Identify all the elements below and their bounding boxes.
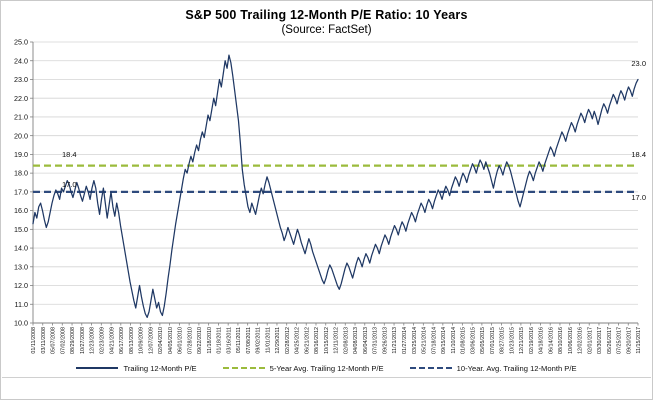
- legend-label: 5-Year Avg. Trailing 12-Month P/E: [270, 364, 384, 373]
- x-axis-tick-label: 12/11/2012: [334, 327, 340, 354]
- x-axis-tick-label: 01/08/2015: [461, 327, 467, 354]
- legend-label: Trailing 12-Month P/E: [123, 364, 196, 373]
- avg5-right-label: 18.4: [631, 150, 646, 159]
- x-axis-tick-label: 06/04/2013: [363, 327, 369, 354]
- y-axis-tick-label: 15.0: [14, 225, 28, 234]
- x-axis-tick-label: 12/29/2011: [275, 327, 281, 354]
- x-axis-tick-label: 02/01/2017: [587, 327, 593, 354]
- x-axis-tick-label: 07/01/2015: [490, 327, 496, 354]
- chart-canvas: 25.024.023.022.021.020.019.018.017.016.0…: [0, 0, 653, 400]
- x-axis-tick-label: 05/21/2014: [422, 327, 428, 354]
- y-axis-tick-label: 16.0: [14, 206, 28, 215]
- x-axis-tick-label: 12/21/2015: [519, 327, 525, 354]
- x-axis-tick-label: 01/27/2014: [402, 327, 408, 354]
- legend-swatch-dash-icon: [410, 367, 452, 369]
- y-axis-tick-label: 24.0: [14, 56, 28, 65]
- x-axis-tick-label: 03/16/2011: [226, 327, 232, 354]
- y-axis-tick-label: 18.0: [14, 169, 28, 178]
- x-axis-tick-label: 03/06/2015: [470, 327, 476, 354]
- y-axis-tick-label: 22.0: [14, 94, 28, 103]
- x-axis-tick-label: 06/14/2016: [548, 327, 554, 354]
- avg5-left-label: 18.4: [62, 150, 77, 159]
- x-axis-tick-label: 04/08/2013: [353, 327, 359, 354]
- x-axis-tick-label: 07/28/2010: [187, 327, 193, 354]
- chart-legend: Trailing 12-Month P/E 5-Year Avg. Traili…: [0, 360, 653, 376]
- x-axis-tick-label: 11/10/2014: [451, 327, 457, 354]
- x-axis-tick-label: 02/04/2010: [158, 327, 164, 354]
- y-axis-tick-label: 10.0: [14, 319, 28, 328]
- x-axis-tick-label: 08/13/2009: [129, 327, 135, 354]
- x-axis-tick-label: 03/25/2014: [412, 327, 418, 354]
- avg10-right-label: 17.0: [631, 193, 646, 202]
- x-axis-tick-label: 02/19/2016: [529, 327, 535, 354]
- x-axis-tick-label: 06/01/2010: [178, 327, 184, 354]
- y-axis-tick-label: 21.0: [14, 113, 28, 122]
- x-axis-tick-label: 09/22/2010: [197, 327, 203, 354]
- x-axis-tick-label: 07/02/2008: [60, 327, 66, 354]
- x-axis-tick-label: 05/05/2015: [480, 327, 486, 354]
- x-axis-tick-label: 07/08/2011: [246, 327, 252, 354]
- x-axis-tick-label: 06/21/2012: [304, 327, 310, 354]
- x-axis-tick-label: 02/23/2009: [100, 327, 106, 354]
- x-axis-tick-label: 09/26/2013: [382, 327, 388, 354]
- x-axis-tick-label: 11/01/2011: [265, 327, 271, 353]
- x-axis-tick-label: 12/23/2008: [90, 327, 96, 354]
- x-axis-tick-label: 07/25/2017: [617, 327, 623, 354]
- legend-swatch-line-icon: [76, 367, 118, 369]
- legend-item-trailing-pe[interactable]: Trailing 12-Month P/E: [76, 364, 196, 373]
- x-axis-tick-label: 10/09/2009: [139, 327, 145, 354]
- y-axis-tick-label: 17.0: [14, 187, 28, 196]
- x-axis-tick-label: 08/27/2015: [500, 327, 506, 354]
- x-axis-tick-label: 02/08/2013: [343, 327, 349, 354]
- legend-label: 10-Year. Avg. Trailing 12-Month P/E: [457, 364, 577, 373]
- y-axis-tick-label: 14.0: [14, 244, 28, 253]
- x-axis-tick-label: 04/18/2016: [539, 327, 545, 354]
- x-axis-tick-label: 02/28/2012: [285, 327, 291, 354]
- x-axis-tick-label: 01/11/2008: [31, 327, 37, 354]
- x-axis-tick-label: 04/05/2010: [168, 327, 174, 354]
- x-axis-tick-label: 10/06/2016: [568, 327, 574, 354]
- x-axis-tick-label: 04/21/2009: [109, 327, 115, 354]
- y-axis-tick-label: 11.0: [15, 300, 28, 309]
- y-axis-tick-label: 25.0: [14, 38, 28, 47]
- x-axis-tick-label: 03/30/2017: [597, 327, 603, 354]
- x-axis-tick-label: 09/02/2011: [256, 327, 262, 354]
- x-axis-tick-label: 12/07/2009: [148, 327, 154, 354]
- x-axis-tick-label: 05/26/2017: [607, 327, 613, 354]
- x-axis-tick-label: 07/31/2013: [373, 327, 379, 354]
- x-axis-tick-label: 10/23/2015: [509, 327, 515, 354]
- avg10-left-label: 17.0: [62, 180, 77, 189]
- x-axis-tick-label: 08/10/2016: [558, 327, 564, 354]
- x-axis-tick-label: 05/07/2008: [51, 327, 57, 354]
- x-axis-tick-label: 11/15/2017: [636, 327, 642, 354]
- legend-item-5yr-avg[interactable]: 5-Year Avg. Trailing 12-Month P/E: [223, 364, 384, 373]
- x-axis-tick-label: 10/15/2012: [324, 327, 330, 354]
- x-axis-tick-label: 09/15/2014: [441, 327, 447, 354]
- x-axis-tick-label: 03/11/2008: [41, 327, 47, 354]
- x-axis-tick-label: 04/25/2012: [295, 327, 301, 354]
- x-axis-tick-label: 01/18/2011: [217, 327, 223, 354]
- y-axis-tick-label: 12.0: [14, 281, 28, 290]
- x-axis-tick-label: 11/21/2013: [392, 327, 398, 354]
- x-axis-tick-label: 11/18/2010: [207, 327, 213, 354]
- x-axis-tick-label: 08/29/2008: [70, 327, 76, 354]
- legend-swatch-dash-icon: [223, 367, 265, 369]
- x-axis-tick-label: 12/02/2016: [578, 327, 584, 354]
- y-axis-tick-label: 13.0: [14, 262, 28, 271]
- x-axis-tick-label: 06/17/2009: [119, 327, 125, 354]
- x-axis-tick-label: 08/16/2012: [314, 327, 320, 354]
- legend-divider: [2, 377, 651, 378]
- x-axis-tick-label: 09/20/2017: [626, 327, 632, 354]
- plot-area: 25.024.023.022.021.020.019.018.017.016.0…: [0, 0, 653, 400]
- y-axis-tick-label: 23.0: [14, 75, 28, 84]
- x-axis-tick-label: 05/11/2011: [236, 327, 242, 353]
- y-axis-tick-label: 20.0: [14, 131, 28, 140]
- legend-item-10yr-avg[interactable]: 10-Year. Avg. Trailing 12-Month P/E: [410, 364, 577, 373]
- series-line-trailing-pe: [33, 55, 638, 317]
- x-axis-tick-label: 07/18/2014: [431, 327, 437, 354]
- y-axis-tick-label: 19.0: [14, 150, 28, 159]
- x-axis-tick-label: 10/27/2008: [80, 327, 86, 354]
- series-right-label: 23.0: [631, 59, 646, 68]
